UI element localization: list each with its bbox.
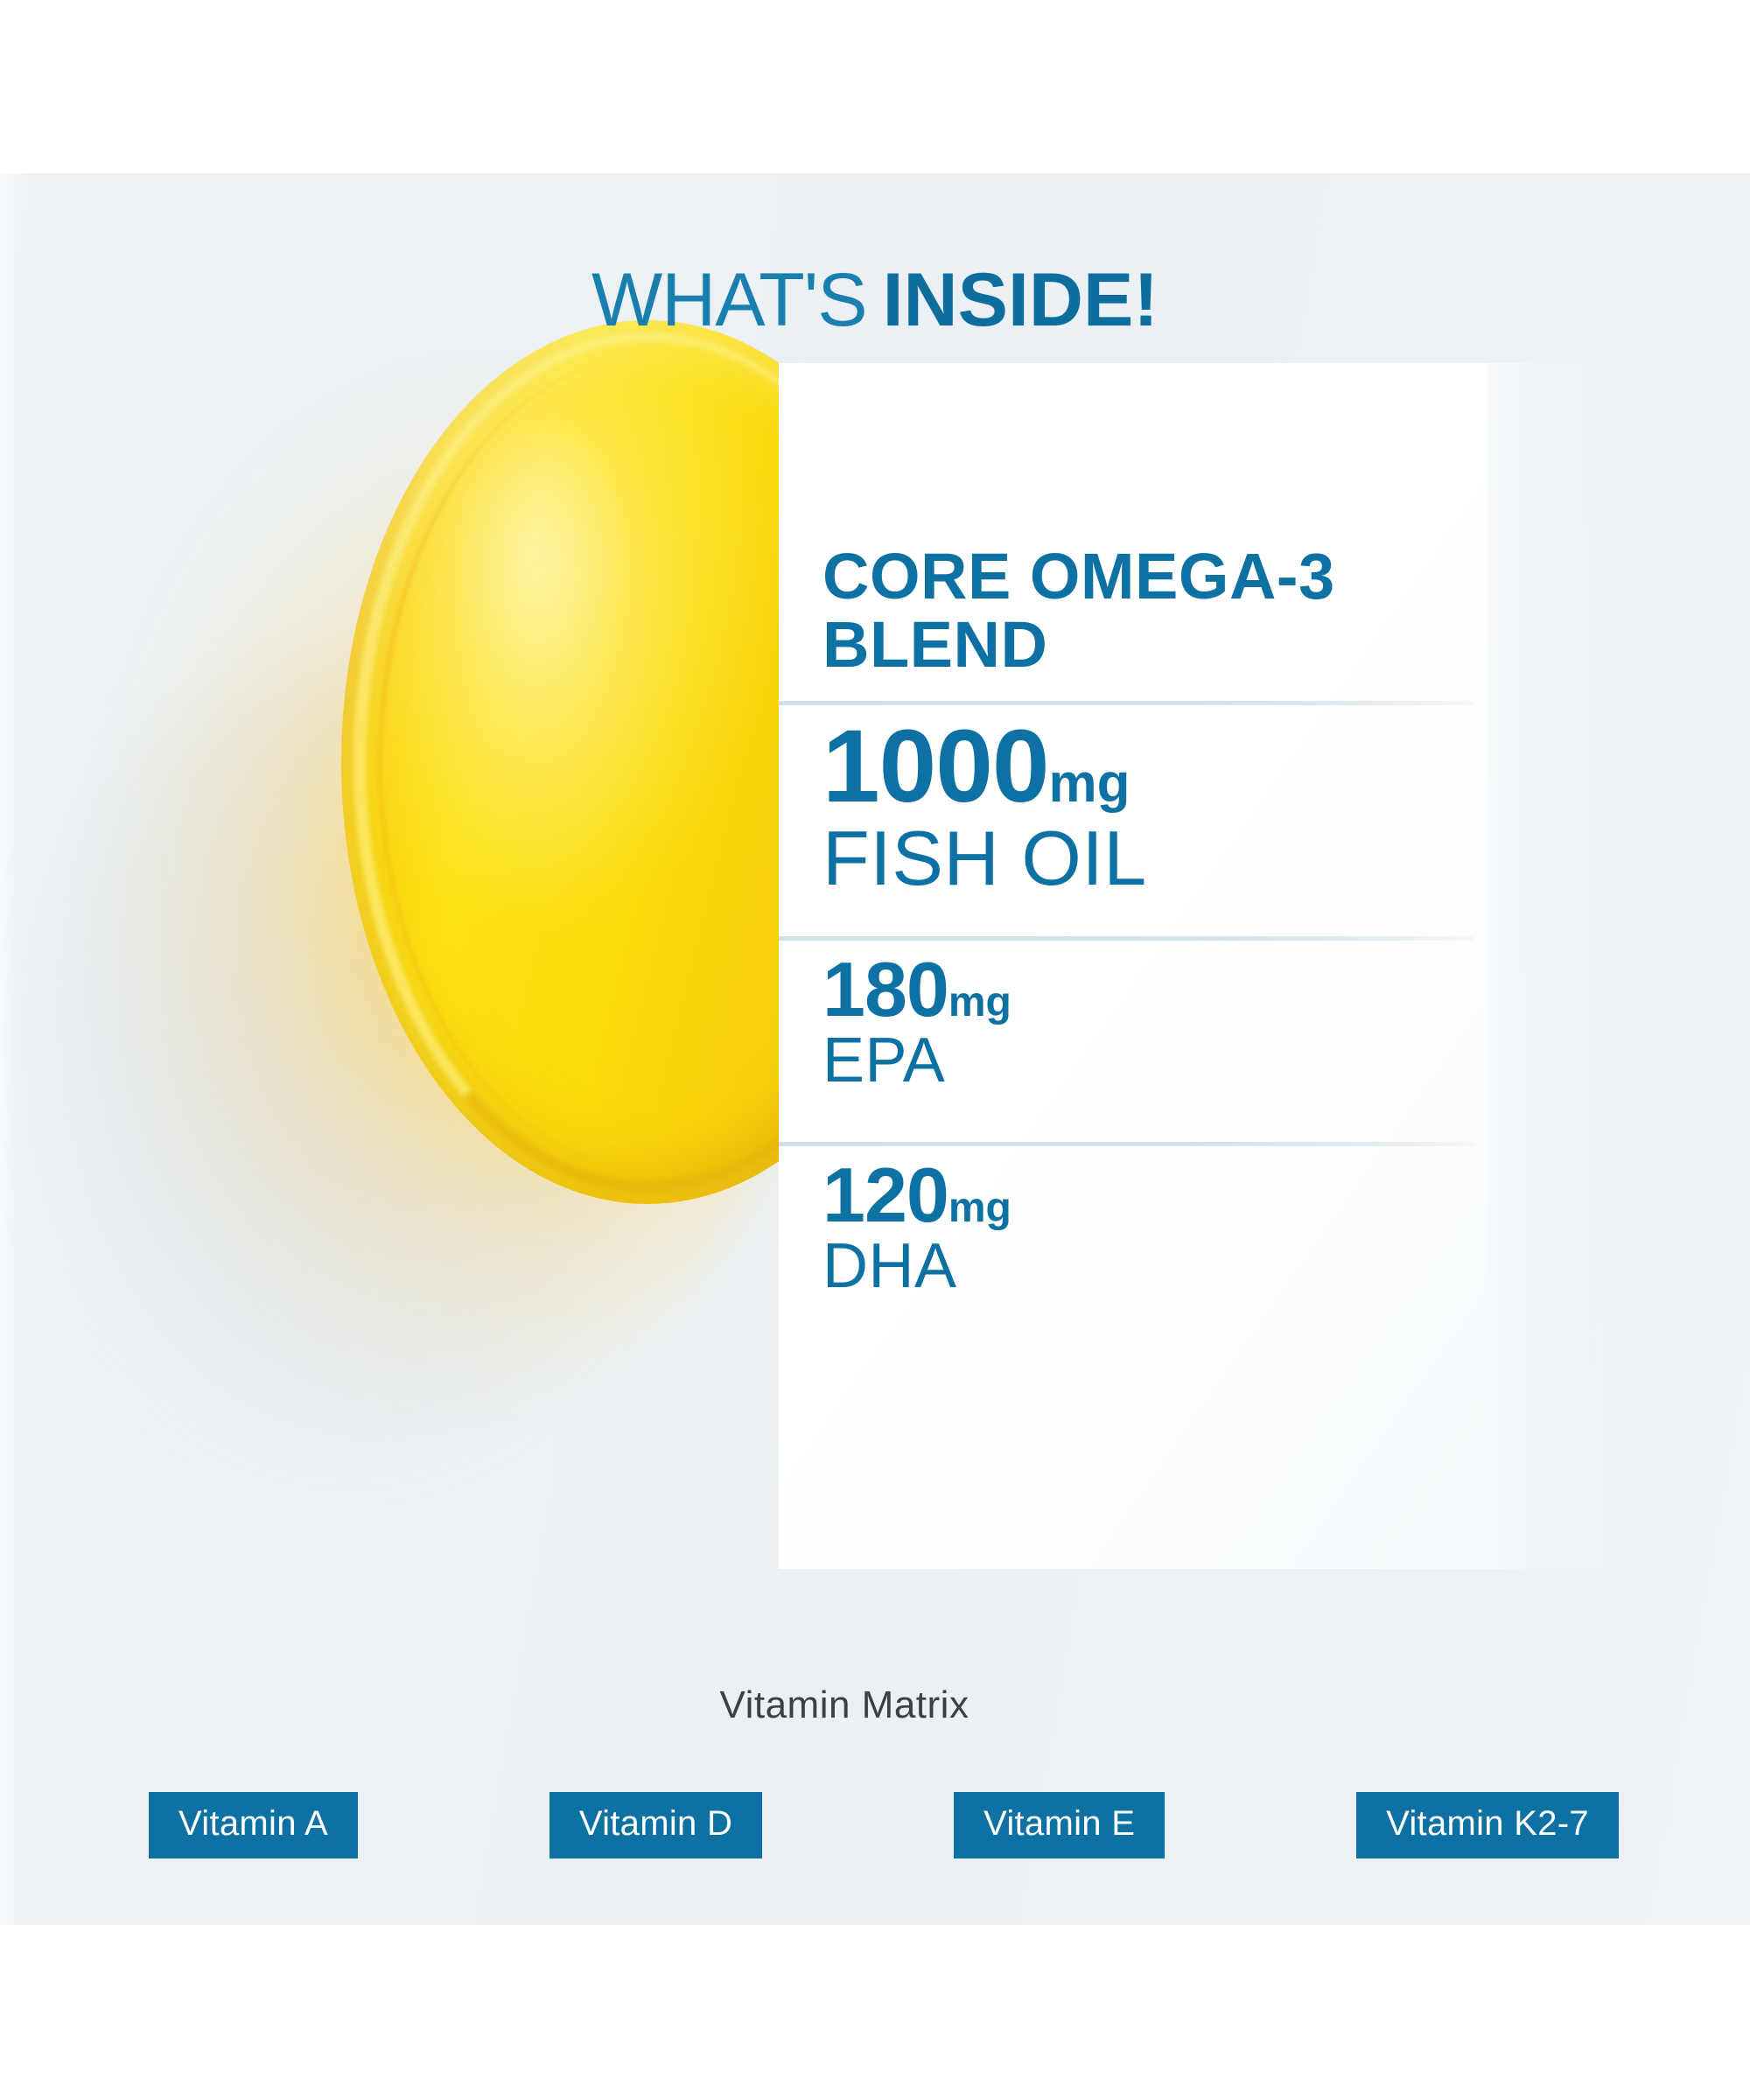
dose-unit-fish-oil: mg <box>1049 753 1130 814</box>
dose-amount-epa: 180mg <box>822 953 1522 1026</box>
dose-amount-dha: 120mg <box>822 1158 1522 1232</box>
softgel-capsule-photo <box>0 173 787 1713</box>
dose-row-dha: 120mg DHA <box>822 1158 1522 1300</box>
blend-title: CORE OMEGA-3 BLEND <box>822 542 1435 680</box>
dose-unit-dha: mg <box>948 1185 1011 1231</box>
vitamin-badge-d[interactable]: Vitamin D <box>549 1792 762 1858</box>
divider-2 <box>779 936 1474 941</box>
vitamin-badge-list: Vitamin A Vitamin D Vitamin E Vitamin K2… <box>149 1792 1619 1858</box>
dose-row-fish-oil: 1000mg FISH OIL <box>822 717 1522 899</box>
vitamin-matrix-label: Vitamin Matrix <box>0 1683 1689 1727</box>
vitamin-badge-k2-7[interactable]: Vitamin K2-7 <box>1356 1792 1619 1858</box>
dose-number-fish-oil: 1000 <box>822 709 1049 824</box>
dose-row-epa: 180mg EPA <box>822 953 1522 1095</box>
vitamin-badge-e[interactable]: Vitamin E <box>954 1792 1165 1858</box>
dose-name-fish-oil: FISH OIL <box>822 818 1522 899</box>
capsule-highlight <box>411 436 674 891</box>
divider-3 <box>779 1142 1474 1146</box>
panel-content: CORE OMEGA-3 BLEND 1000mg FISH OIL 180mg… <box>822 542 1522 1300</box>
infographic-root: WHAT'SINSIDE! CORE OMEGA-3 BLEND 1000mg … <box>0 0 1750 2100</box>
dose-number-dha: 120 <box>822 1151 948 1238</box>
vitamin-badge-a[interactable]: Vitamin A <box>149 1792 358 1858</box>
dose-number-epa: 180 <box>822 946 948 1032</box>
page-title: WHAT'SINSIDE! <box>0 262 1750 338</box>
dose-name-epa: EPA <box>822 1028 1522 1095</box>
dose-unit-epa: mg <box>948 979 1011 1025</box>
title-bold-part: INSIDE! <box>883 258 1158 342</box>
dose-amount-fish-oil: 1000mg <box>822 717 1522 816</box>
title-light-part: WHAT'S <box>591 258 867 342</box>
divider-1 <box>779 701 1474 705</box>
dose-name-dha: DHA <box>822 1234 1522 1300</box>
